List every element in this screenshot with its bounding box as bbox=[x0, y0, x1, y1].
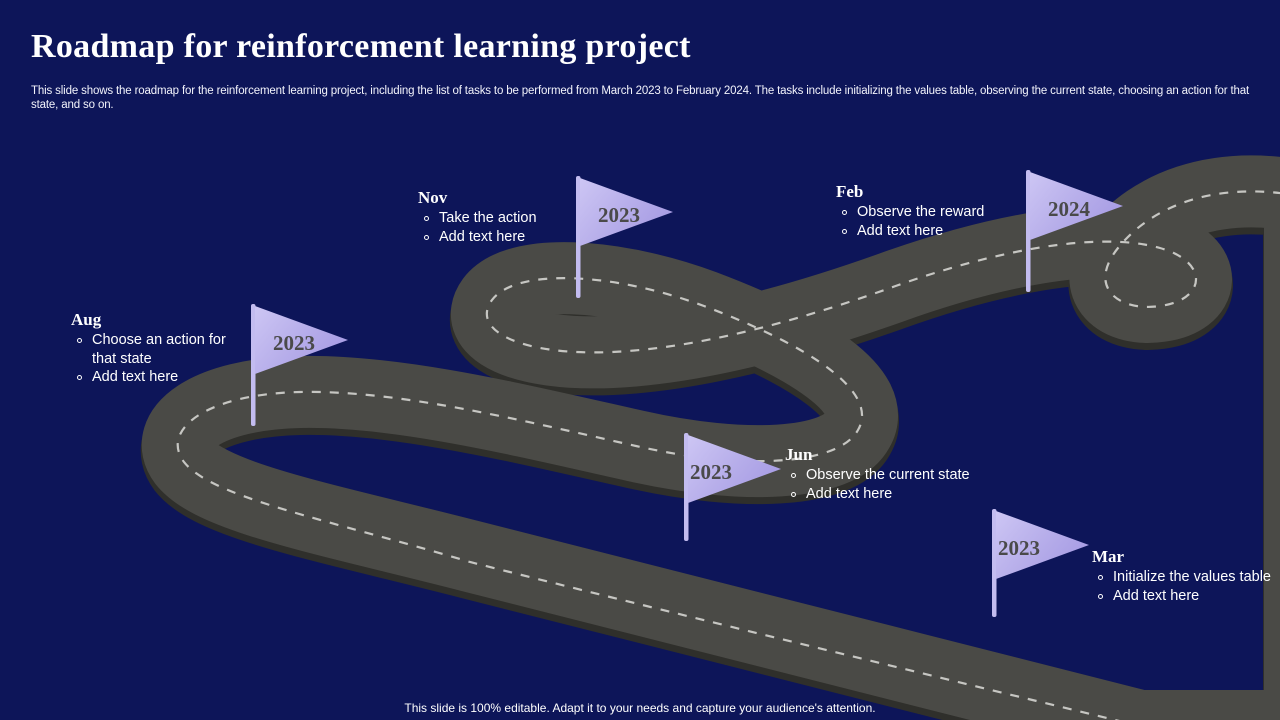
milestone-text-mar-2023: Mar Initialize the values table Add text… bbox=[1092, 546, 1280, 605]
milestone-task-list-feb-2024: Observe the reward Add text here bbox=[836, 203, 1011, 240]
milestone-task-list-aug-2023: Choose an action for that state Add text… bbox=[71, 331, 246, 387]
milestone-month-feb-2024: Feb bbox=[836, 181, 1011, 202]
flag-year-aug-2023: 2023 bbox=[273, 331, 315, 355]
milestone-task: Add text here bbox=[418, 228, 578, 247]
flag-year-feb-2024: 2024 bbox=[1048, 197, 1091, 221]
page-subtitle: This slide shows the roadmap for the rei… bbox=[31, 84, 1253, 112]
milestone-text-jun-2023: Jun Observe the current state Add text h… bbox=[785, 444, 1005, 503]
milestone-month-jun-2023: Jun bbox=[785, 444, 1005, 465]
milestone-task: Add text here bbox=[836, 222, 1011, 241]
flag-year-jun-2023: 2023 bbox=[690, 460, 732, 484]
milestone-task: Choose an action for that state bbox=[71, 331, 246, 368]
milestone-text-feb-2024: Feb Observe the reward Add text here bbox=[836, 181, 1011, 240]
slide-footer-note: This slide is 100% editable. Adapt it to… bbox=[0, 700, 1280, 716]
milestone-task: Add text here bbox=[785, 485, 1005, 504]
milestone-month-mar-2023: Mar bbox=[1092, 546, 1280, 567]
milestone-month-aug-2023: Aug bbox=[71, 309, 246, 330]
milestone-task-list-jun-2023: Observe the current state Add text here bbox=[785, 466, 1005, 503]
milestone-task: Observe the reward bbox=[836, 203, 1011, 222]
flag-icon-nov-2023: 2023 bbox=[568, 170, 698, 320]
milestone-task-list-mar-2023: Initialize the values table Add text her… bbox=[1092, 568, 1280, 605]
milestone-task: Initialize the values table bbox=[1092, 568, 1280, 587]
flag-icon-aug-2023: 2023 bbox=[243, 298, 373, 448]
milestone-task: Take the action bbox=[418, 209, 578, 228]
flag-icon-feb-2024: 2024 bbox=[1018, 164, 1148, 314]
milestone-text-aug-2023: Aug Choose an action for that state Add … bbox=[71, 309, 246, 387]
milestone-text-nov-2023: Nov Take the action Add text here bbox=[418, 187, 578, 246]
milestone-task-list-nov-2023: Take the action Add text here bbox=[418, 209, 578, 246]
flag-year-mar-2023: 2023 bbox=[998, 536, 1040, 560]
milestone-task: Add text here bbox=[71, 368, 246, 387]
slide-canvas: Roadmap for reinforcement learning proje… bbox=[0, 0, 1280, 720]
page-title: Roadmap for reinforcement learning proje… bbox=[31, 27, 1251, 67]
milestone-task: Add text here bbox=[1092, 587, 1280, 606]
milestone-month-nov-2023: Nov bbox=[418, 187, 578, 208]
milestone-task: Observe the current state bbox=[785, 466, 1005, 485]
flag-year-nov-2023: 2023 bbox=[598, 203, 640, 227]
